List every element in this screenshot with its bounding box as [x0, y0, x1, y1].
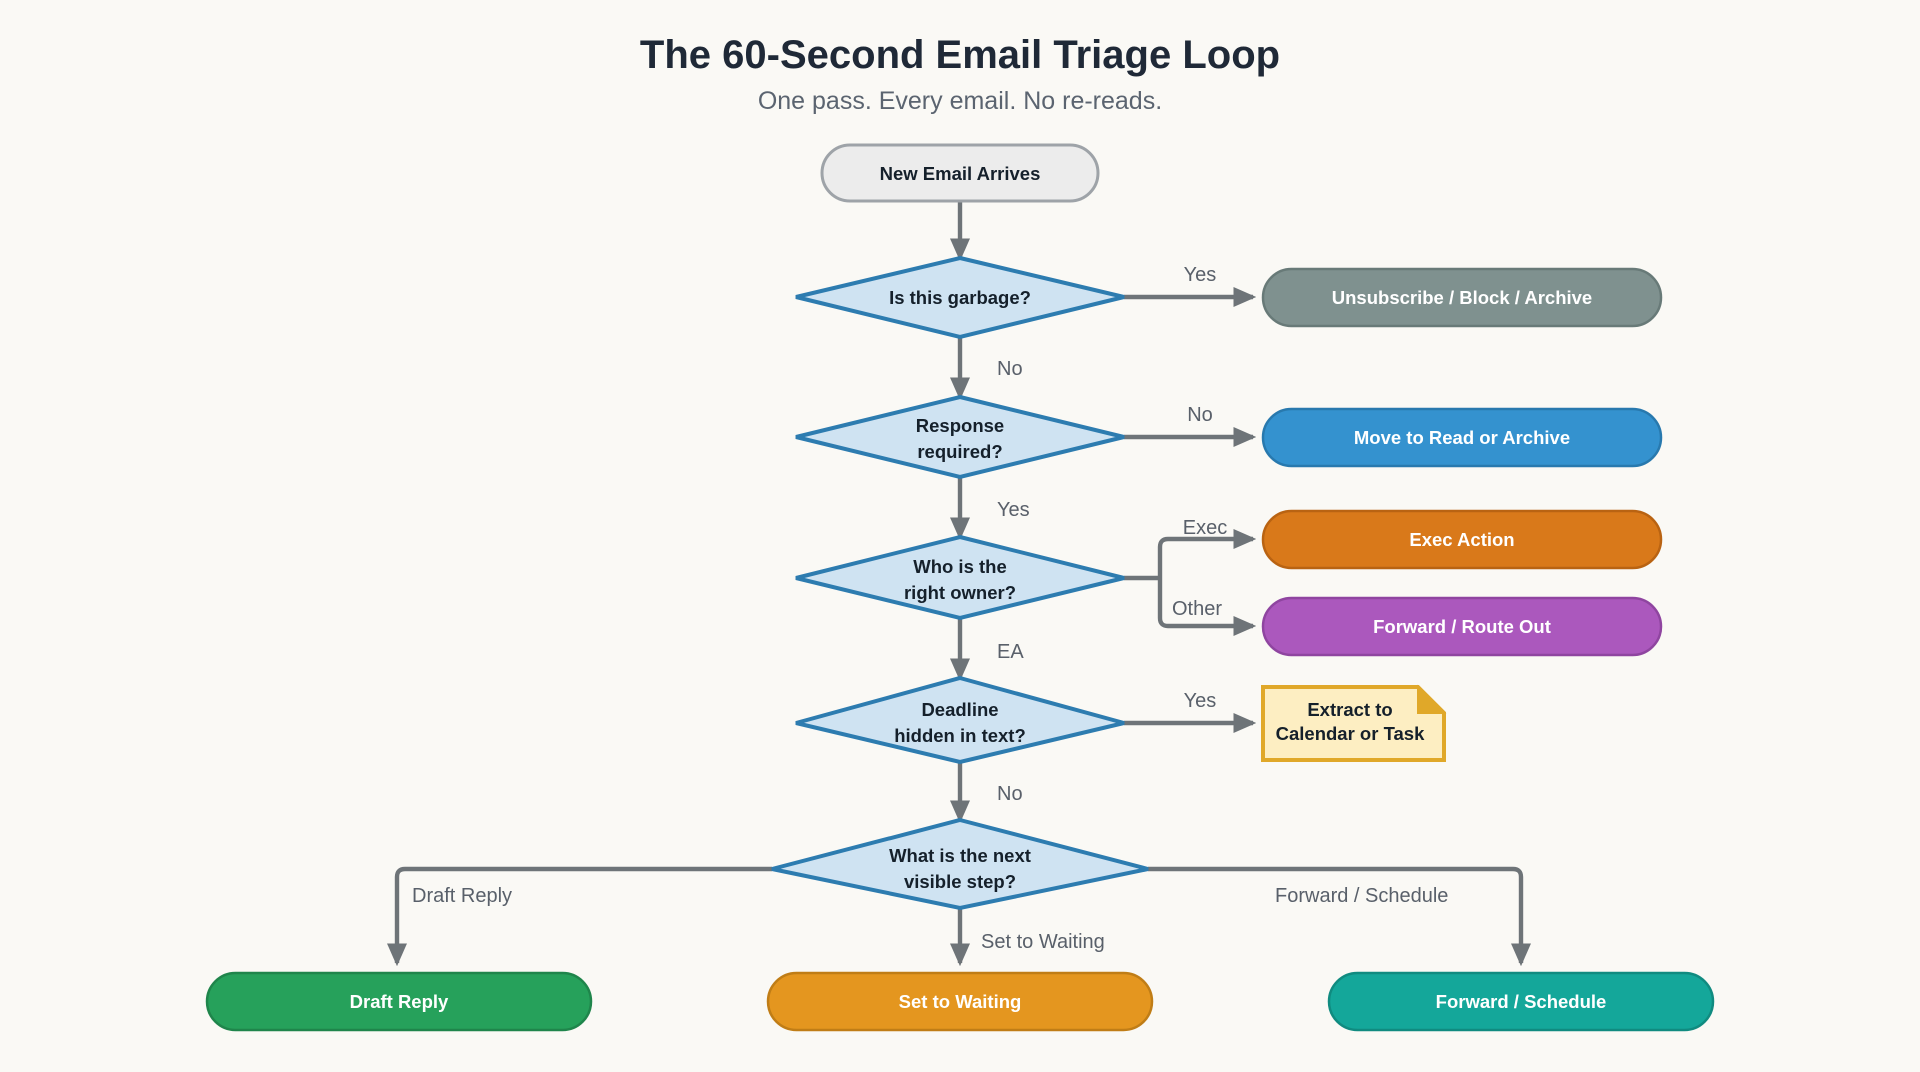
d4-label-line-1: Deadline [921, 699, 998, 720]
connector-d5-to-a8 [1148, 869, 1521, 963]
decision-diamond-shape [796, 397, 1124, 477]
edge-label-d5-forward-schedule: Forward / Schedule [1275, 885, 1448, 907]
node-unsubscribe-block-archive[interactable]: Unsubscribe / Block / Archive [1263, 269, 1661, 326]
start-label: New Email Arrives [880, 163, 1041, 184]
edge-label-d4-yes: Yes [1184, 690, 1217, 712]
page-subtitle: One pass. Every email. No re-reads. [758, 87, 1162, 115]
page-title: The 60-Second Email Triage Loop [640, 33, 1280, 77]
a1-label: Unsubscribe / Block / Archive [1332, 287, 1592, 308]
d5-label-line-1: What is the next [889, 845, 1031, 866]
node-move-to-read-or-archive[interactable]: Move to Read or Archive [1263, 409, 1661, 466]
edge-label-d2-no: No [1187, 404, 1213, 426]
node-exec-action[interactable]: Exec Action [1263, 511, 1661, 568]
d3-label-line-2: right owner? [904, 582, 1016, 603]
edge-label-d3-exec: Exec [1183, 517, 1227, 539]
node-set-to-waiting[interactable]: Set to Waiting [768, 973, 1152, 1030]
d3-label-line-1: Who is the [913, 556, 1007, 577]
a5-label-line-2: Calendar or Task [1276, 723, 1425, 744]
a5-label-line-1: Extract to [1307, 699, 1392, 720]
node-who-is-the-right-owner[interactable]: Who is the right owner? [796, 537, 1124, 618]
edge-label-d2-yes: Yes [997, 499, 1030, 521]
edge-label-d1-yes: Yes [1184, 264, 1217, 286]
a8-label: Forward / Schedule [1436, 991, 1607, 1012]
node-new-email-arrives[interactable]: New Email Arrives [822, 145, 1098, 201]
node-forward-schedule[interactable]: Forward / Schedule [1329, 973, 1713, 1030]
node-is-this-garbage[interactable]: Is this garbage? [796, 258, 1124, 337]
d5-label-line-2: visible step? [904, 871, 1016, 892]
d2-label-line-1: Response [916, 415, 1004, 436]
edge-label-d1-no: No [997, 358, 1023, 380]
a3-label: Exec Action [1409, 529, 1514, 550]
a7-label: Set to Waiting [899, 991, 1022, 1012]
d2-label-line-2: required? [917, 441, 1002, 462]
decision-diamond-shape [796, 537, 1124, 618]
connector-d3-to-a3 [1160, 539, 1253, 578]
node-draft-reply[interactable]: Draft Reply [207, 973, 591, 1030]
node-extract-to-calendar-or-task[interactable]: Extract to Calendar or Task [1263, 687, 1444, 760]
node-deadline-hidden-in-text[interactable]: Deadline hidden in text? [796, 678, 1124, 762]
edge-label-d3-ea: EA [997, 641, 1024, 663]
flowchart-canvas: The 60-Second Email Triage Loop One pass… [0, 0, 1920, 1072]
node-forward-route-out[interactable]: Forward / Route Out [1263, 598, 1661, 655]
d4-label-line-2: hidden in text? [894, 725, 1026, 746]
a2-label: Move to Read or Archive [1354, 427, 1570, 448]
node-what-is-the-next-visible-step[interactable]: What is the next visible step? [772, 820, 1148, 908]
edge-label-d4-no: No [997, 783, 1023, 805]
a4-label: Forward / Route Out [1373, 616, 1551, 637]
connector-d5-to-a6 [397, 869, 772, 963]
flowchart-svg: The 60-Second Email Triage Loop One pass… [0, 0, 1920, 1072]
edge-label-d5-draft-reply: Draft Reply [412, 885, 512, 907]
node-response-required[interactable]: Response required? [796, 397, 1124, 477]
edge-label-d5-set-to-waiting: Set to Waiting [981, 931, 1105, 953]
d1-label-line-1: Is this garbage? [889, 287, 1031, 308]
a6-label: Draft Reply [350, 991, 449, 1012]
edge-label-d3-other: Other [1172, 598, 1222, 620]
decision-diamond-shape [796, 678, 1124, 762]
a5-note-fold-icon [1418, 687, 1444, 713]
